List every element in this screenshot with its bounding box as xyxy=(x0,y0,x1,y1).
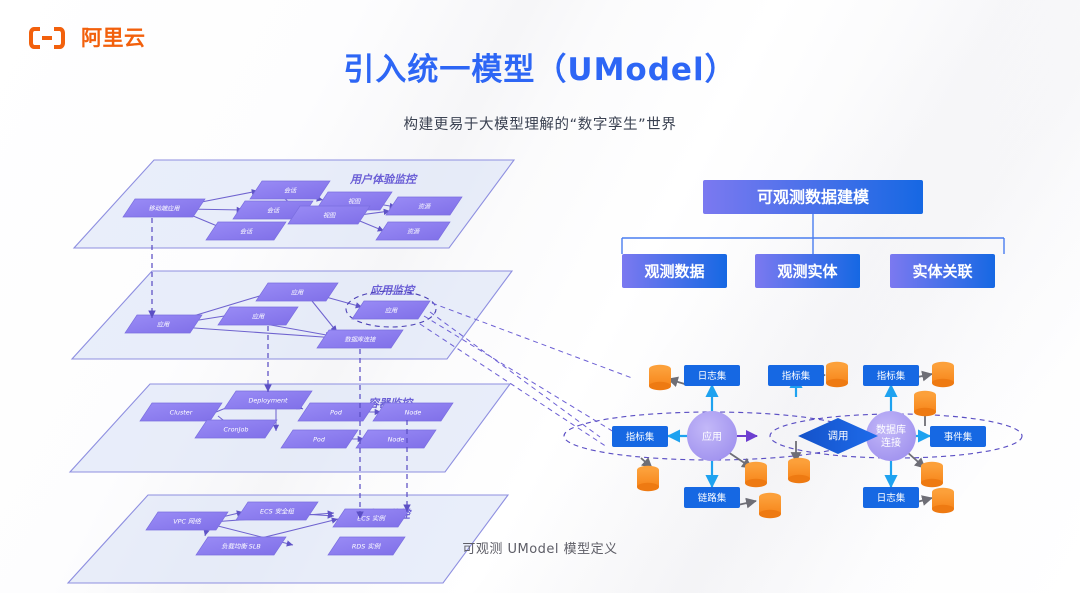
layer-node: Pod xyxy=(298,403,375,421)
layer-node: Node xyxy=(356,430,436,448)
node-label: 应用 xyxy=(291,289,304,297)
node-label: Node xyxy=(388,436,405,444)
slide-figure: 云产品监控 VPC 网络 ECS 安全组 负载均衡 SLB ECS 实例 xyxy=(0,0,1080,593)
layer-node: CronJob xyxy=(195,420,277,438)
layer-label: 用户体验监控 xyxy=(349,173,418,186)
layer-node: Pod xyxy=(281,430,358,448)
database-cylinder-icon xyxy=(759,493,781,518)
relation-diamond-call[interactable]: 调用 xyxy=(798,418,878,454)
node-label: ECS 安全组 xyxy=(260,508,294,516)
dataset-box-log-right[interactable]: 日志集 xyxy=(863,487,919,508)
layer-application-monitoring: 应用监控 应用 应用 应用 应用 数据库连接 xyxy=(72,271,512,359)
layer-vertical-links xyxy=(152,218,407,519)
relation-label: 调用 xyxy=(828,430,849,442)
dataset-box-metric-relation[interactable]: 指标集 xyxy=(768,365,824,386)
tree-child-box[interactable]: 观测实体 xyxy=(755,254,860,288)
layer-node: Node xyxy=(373,403,453,421)
tree-child-box[interactable]: 观测数据 xyxy=(622,254,727,288)
node-label: ECS 实例 xyxy=(357,515,386,523)
node-label: Pod xyxy=(313,436,326,444)
layer-node: Deployment xyxy=(224,391,312,409)
figure-caption: 可观测 UModel 模型定义 xyxy=(0,538,1080,557)
dataset-label: 链路集 xyxy=(698,492,727,504)
layer-node: 资源 xyxy=(386,197,462,215)
database-cylinder-icon xyxy=(649,365,671,390)
layer-node: Cluster xyxy=(140,403,222,421)
node-label: 会话 xyxy=(267,207,280,215)
entity-label-line2: 连接 xyxy=(881,436,901,449)
dataset-box-metric-left[interactable]: 指标集 xyxy=(612,426,668,447)
dataset-box-log-left[interactable]: 日志集 xyxy=(684,365,740,386)
dataset-label: 日志集 xyxy=(698,370,727,382)
umodel-network: 日志集 指标集 链路集 指标集 指标集 事件集 日志集 xyxy=(564,362,1022,518)
tree-root-box[interactable]: 可观测数据建模 xyxy=(703,180,923,214)
node-label: 应用 xyxy=(385,307,398,315)
database-cylinder-icon xyxy=(921,462,943,487)
tree-child-label: 观测数据 xyxy=(644,263,704,281)
entity-label-line1: 数据库 xyxy=(876,423,906,436)
entity-label: 应用 xyxy=(702,430,722,443)
tree-child-label: 实体关联 xyxy=(912,263,973,281)
layer-node: 数据库连接 xyxy=(317,330,403,348)
entity-circle-application[interactable]: 应用 xyxy=(687,411,737,461)
node-label: VPC 网络 xyxy=(173,518,202,526)
node-label: 资源 xyxy=(418,203,432,211)
database-cylinder-icon xyxy=(932,488,954,513)
layer-node: 视图 xyxy=(288,206,370,224)
tree-child-label: 观测实体 xyxy=(777,263,838,281)
layer-node: 会话 xyxy=(250,181,330,199)
node-label: 会话 xyxy=(284,187,297,195)
node-label: 移动端应用 xyxy=(149,205,181,213)
node-label: 会话 xyxy=(240,228,253,236)
layer-node: 应用 xyxy=(218,307,298,325)
dataset-label: 事件集 xyxy=(944,431,973,443)
layer-node: 应用 xyxy=(256,283,338,301)
node-label: 资源 xyxy=(407,228,421,236)
database-cylinder-icon xyxy=(637,466,659,491)
layer-container-monitoring: 容器监控 Cluster Deployment CronJob Pod Po xyxy=(70,384,510,472)
dataset-label: 日志集 xyxy=(877,492,906,504)
dataset-label: 指标集 xyxy=(626,431,655,443)
database-cylinder-icon xyxy=(826,362,848,387)
node-label: 视图 xyxy=(323,212,336,220)
dataset-label: 指标集 xyxy=(877,370,906,382)
node-label: 应用 xyxy=(252,313,265,321)
layer-node: ECS 安全组 xyxy=(236,502,318,520)
node-label: Pod xyxy=(330,409,343,417)
tree-child-box[interactable]: 实体关联 xyxy=(890,254,995,288)
node-label: Cluster xyxy=(170,409,193,417)
node-label: Deployment xyxy=(248,397,288,405)
node-label: 应用 xyxy=(157,321,170,329)
layer-user-experience-monitoring: 用户体验监控 移动端应用 会话 会话 会话 xyxy=(74,160,514,248)
node-label: 数据库连接 xyxy=(345,336,377,344)
database-cylinder-icon xyxy=(914,391,936,416)
layer-node: 会话 xyxy=(206,222,286,240)
dataset-box-metric-right[interactable]: 指标集 xyxy=(863,365,919,386)
dataset-box-trace-left[interactable]: 链路集 xyxy=(684,487,740,508)
layer-node: VPC 网络 xyxy=(146,512,228,530)
tree-root-label: 可观测数据建模 xyxy=(757,188,870,207)
node-label: CronJob xyxy=(224,426,249,434)
observability-modeling-tree: 可观测数据建模 观测数据 观测实体 实体关联 xyxy=(622,180,1004,288)
dataset-label: 指标集 xyxy=(782,370,811,382)
node-label: Node xyxy=(405,409,422,417)
layer-node: 资源 xyxy=(376,222,450,240)
database-cylinder-icon xyxy=(745,462,767,487)
database-cylinder-icon xyxy=(932,362,954,387)
dataset-box-event-right[interactable]: 事件集 xyxy=(930,426,986,447)
database-cylinder-icon xyxy=(788,458,810,483)
layer-node: 应用 xyxy=(125,315,202,333)
node-label: 视图 xyxy=(348,198,361,206)
layer-node: ECS 实例 xyxy=(333,509,410,527)
layer-node: 移动端应用 xyxy=(123,199,205,217)
layer-node: 应用 xyxy=(352,301,430,319)
